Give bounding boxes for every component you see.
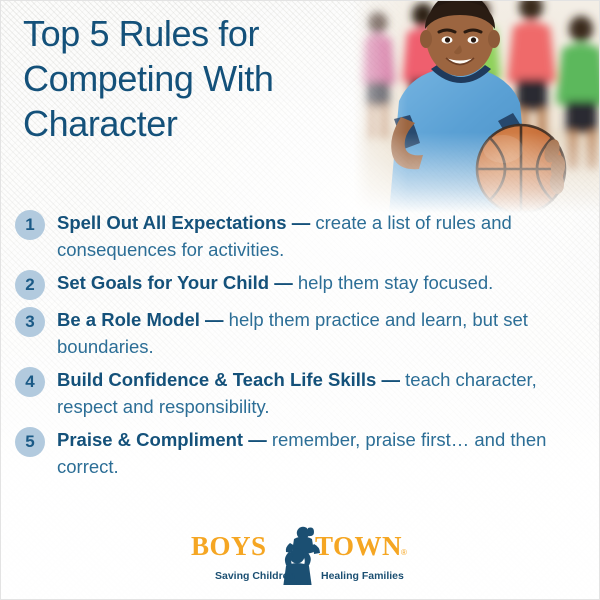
rule-dash: — (248, 429, 267, 450)
brand-logo: BOYS TOWN ® (1, 523, 599, 585)
list-item: 4 Build Confidence & Teach Life Skills —… (15, 366, 587, 420)
rule-dash: — (274, 272, 293, 293)
rule-number-badge: 4 (15, 367, 45, 397)
rule-text: Praise & Compliment — remember, praise f… (57, 426, 587, 480)
list-item: 3 Be a Role Model — help them practice a… (15, 306, 587, 360)
list-item: 1 Spell Out All Expectations — create a … (15, 209, 587, 263)
poster-canvas: Top 5 Rules for Competing With Character… (0, 0, 600, 600)
rule-title: Be a Role Model (57, 309, 200, 330)
page-title-line-1: Top 5 Rules for (23, 11, 375, 56)
rule-title: Set Goals for Your Child (57, 272, 269, 293)
rule-number-badge: 1 (15, 210, 45, 240)
rule-text: Build Confidence & Teach Life Skills — t… (57, 366, 587, 420)
rule-dash: — (292, 212, 311, 233)
rule-text: Spell Out All Expectations — create a li… (57, 209, 587, 263)
rule-title: Spell Out All Expectations (57, 212, 287, 233)
rule-number-badge: 3 (15, 307, 45, 337)
page-title-line-2: Competing With (23, 56, 375, 101)
rule-body: help them stay focused. (298, 272, 493, 293)
rule-number-badge: 5 (15, 427, 45, 457)
rule-title: Build Confidence & Teach Life Skills (57, 369, 376, 390)
rule-number-badge: 2 (15, 270, 45, 300)
page-title: Top 5 Rules for Competing With Character (23, 11, 375, 146)
hero-photo-illustration (353, 1, 600, 213)
rule-dash: — (205, 309, 224, 330)
logo-tagline-left: Saving Children (215, 570, 295, 582)
rules-list: 1 Spell Out All Expectations — create a … (15, 209, 587, 486)
logo-trademark: ® (401, 548, 407, 557)
list-item: 5 Praise & Compliment — remember, praise… (15, 426, 587, 480)
rule-text: Be a Role Model — help them practice and… (57, 306, 587, 360)
list-item: 2 Set Goals for Your Child — help them s… (15, 269, 587, 300)
boys-town-logo-icon: BOYS TOWN ® (187, 523, 413, 585)
logo-tagline-right: Healing Families (321, 570, 404, 582)
rule-text: Set Goals for Your Child — help them sta… (57, 269, 587, 296)
hero-photo (353, 1, 600, 213)
logo-word-left: BOYS (191, 531, 267, 561)
rule-dash: — (382, 369, 401, 390)
rule-title: Praise & Compliment (57, 429, 243, 450)
page-title-line-3: Character (23, 101, 375, 146)
logo-word-right: TOWN (315, 531, 402, 561)
